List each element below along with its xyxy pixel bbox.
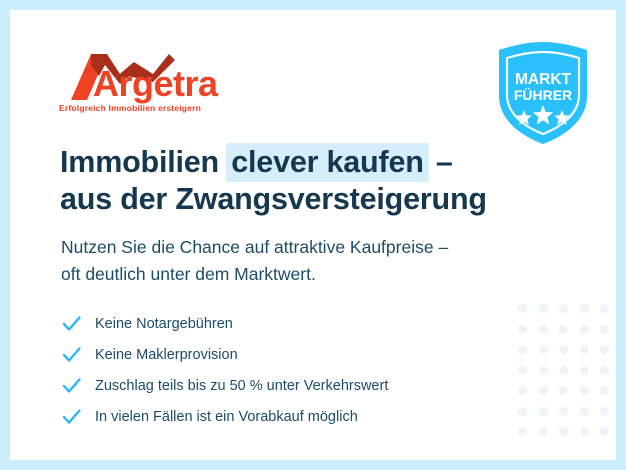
decoration-dot <box>580 427 589 436</box>
decoration-dot <box>559 386 568 395</box>
list-item: Keine Notargebühren <box>61 308 491 339</box>
decoration-dot <box>580 407 589 416</box>
list-item-label: Keine Maklerprovision <box>95 345 238 365</box>
decoration-dot <box>539 325 548 334</box>
logo-tagline: Erfolgreich Immobilien ersteigern <box>59 103 201 113</box>
decoration-dot <box>559 427 568 436</box>
benefits-list: Keine Notargebühren Keine Maklerprovisio… <box>61 308 491 432</box>
decoration-dot <box>539 304 548 313</box>
list-item-label: Keine Notargebühren <box>95 314 233 334</box>
decoration-dot <box>559 325 568 334</box>
page-title: Immobilien clever kaufen – aus der Zwang… <box>60 144 560 218</box>
subtitle: Nutzen Sie die Chance auf attraktive Kau… <box>61 234 571 288</box>
list-item: In vielen Fällen ist ein Vorabkauf mögli… <box>61 401 491 432</box>
badge-line1: MARKT <box>515 71 571 88</box>
headline-highlight: clever kaufen <box>226 143 428 182</box>
check-icon <box>61 406 82 427</box>
decoration-dot <box>580 386 589 395</box>
promo-banner: Argetra Erfolgreich Immobilien ersteiger… <box>0 0 626 470</box>
list-item-label: Zuschlag teils bis zu 50 % unter Verkehr… <box>95 376 388 396</box>
headline-part1: Immobilien <box>60 145 227 179</box>
decoration-dot <box>559 366 568 375</box>
decoration-dot <box>559 345 568 354</box>
decoration-dot <box>539 366 548 375</box>
decoration-dot <box>518 407 527 416</box>
check-icon <box>61 344 82 365</box>
subtitle-line1: Nutzen Sie die Chance auf attraktive Kau… <box>61 237 448 257</box>
banner-canvas: Argetra Erfolgreich Immobilien ersteiger… <box>10 10 616 460</box>
decoration-dot <box>518 345 527 354</box>
list-item: Zuschlag teils bis zu 50 % unter Verkehr… <box>61 370 491 401</box>
headline-part2: – <box>428 145 453 179</box>
decoration-dot <box>518 386 527 395</box>
shield-icon: MARKT FÜHRER <box>493 40 593 146</box>
decoration-dot <box>580 366 589 375</box>
decoration-dot <box>600 386 609 395</box>
decoration-dot <box>518 366 527 375</box>
decoration-dot <box>518 325 527 334</box>
decoration-dot <box>518 427 527 436</box>
decoration-dot <box>559 407 568 416</box>
decoration-dot <box>600 304 609 313</box>
market-leader-badge: MARKT FÜHRER <box>493 40 593 146</box>
subtitle-line2: oft deutlich unter dem Marktwert. <box>61 264 316 284</box>
decoration-dot <box>600 366 609 375</box>
decoration-dot <box>580 304 589 313</box>
decoration-dot <box>539 427 548 436</box>
decoration-dot <box>518 304 527 313</box>
decoration-dot <box>600 407 609 416</box>
argetra-logo: Argetra Erfolgreich Immobilien ersteiger… <box>57 48 237 120</box>
decoration-dot <box>600 345 609 354</box>
check-icon <box>61 313 82 334</box>
decoration-dot <box>600 427 609 436</box>
list-item-label: In vielen Fällen ist ein Vorabkauf mögli… <box>95 407 358 427</box>
decoration-dot <box>580 345 589 354</box>
list-item: Keine Maklerprovision <box>61 339 491 370</box>
decoration-dot <box>600 325 609 334</box>
check-icon <box>61 375 82 396</box>
svg-text:Argetra: Argetra <box>93 63 219 104</box>
decoration-dot <box>539 407 548 416</box>
dot-grid-decoration <box>518 304 616 432</box>
decoration-dot <box>539 386 548 395</box>
argetra-logo-mark: Argetra <box>57 48 237 106</box>
decoration-dot <box>559 304 568 313</box>
headline-line2: aus der Zwangsversteigerung <box>60 182 487 216</box>
badge-line2: FÜHRER <box>514 87 572 103</box>
decoration-dot <box>539 345 548 354</box>
decoration-dot <box>580 325 589 334</box>
